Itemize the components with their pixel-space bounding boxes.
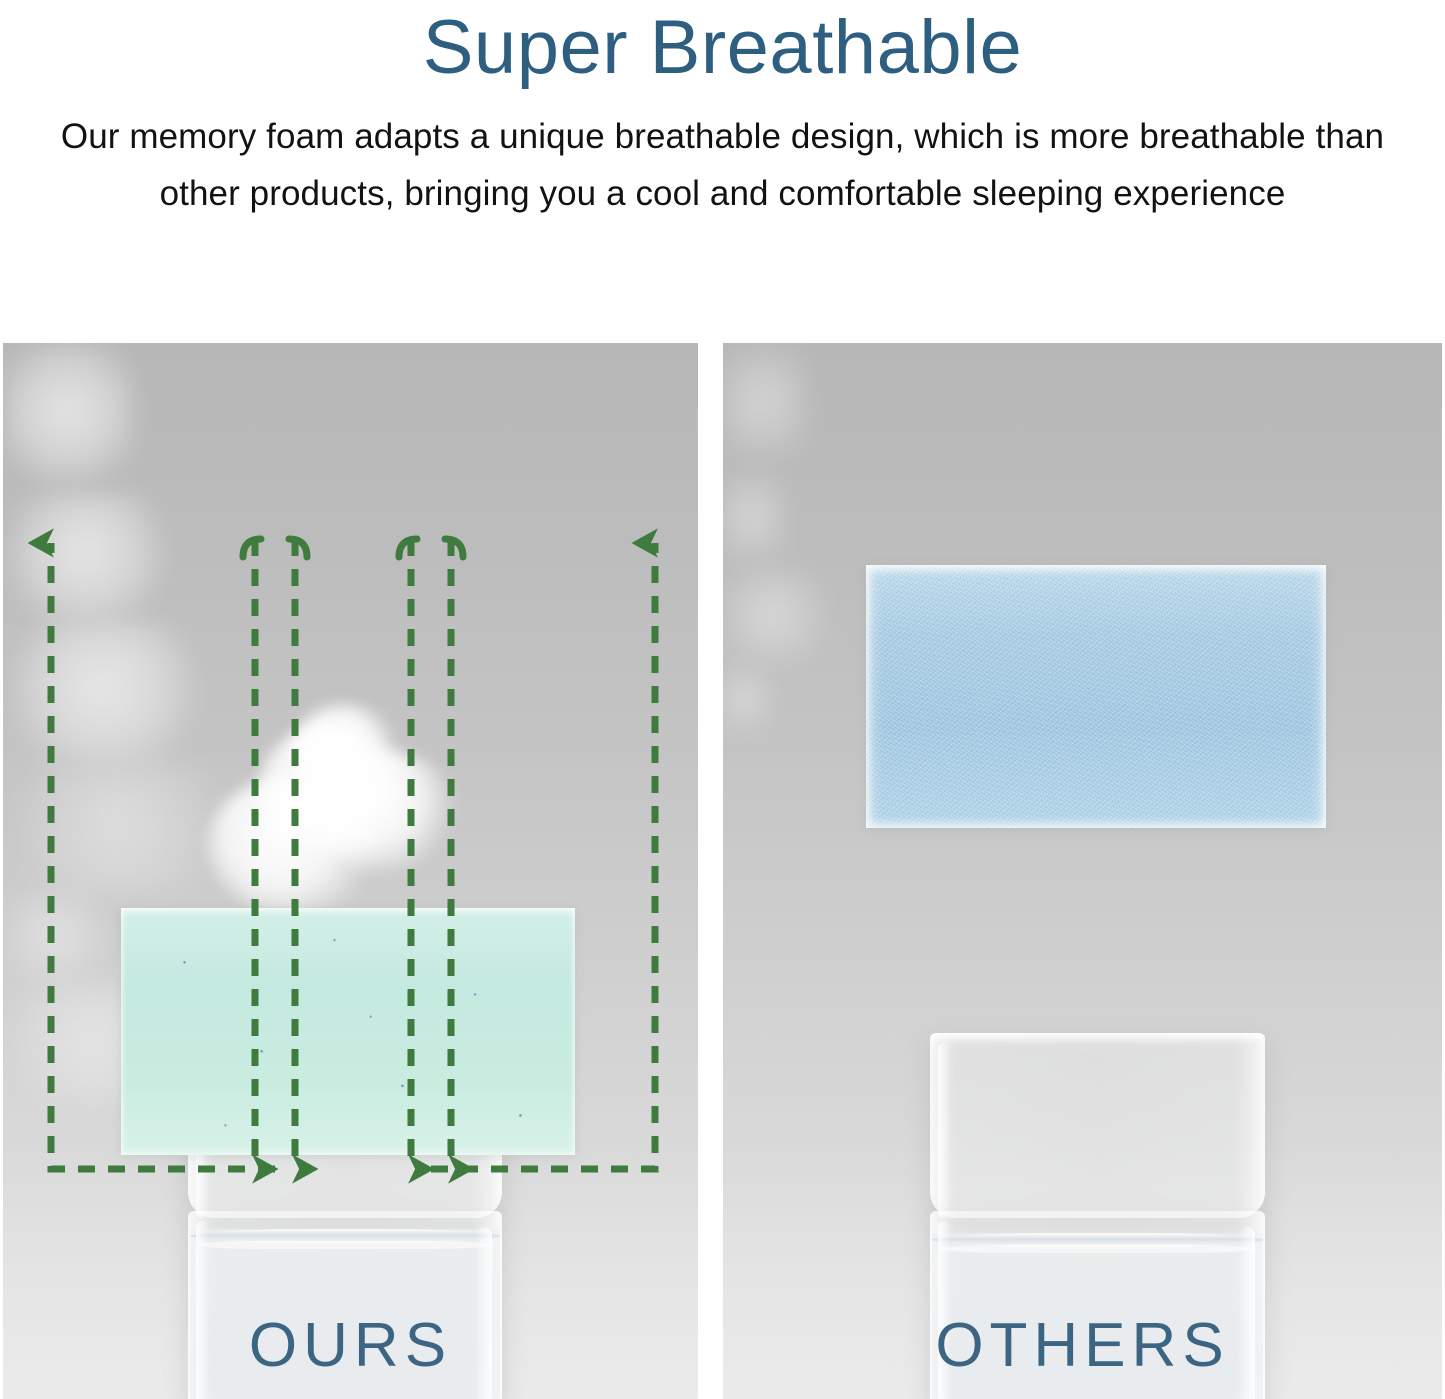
vapor-puff <box>3 493 168 623</box>
airflow-inlet-1 <box>243 539 261 557</box>
vapor-puff <box>3 763 233 893</box>
page-subtitle: Our memory foam adapts a unique breathab… <box>0 94 1445 222</box>
vapor-puff <box>3 893 108 983</box>
vapor-puff <box>723 343 803 471</box>
breathable-mint-memory-foam <box>121 908 575 1155</box>
vapor-puff <box>3 623 203 763</box>
panel-caption-ours: OURS <box>3 1310 698 1381</box>
airflow-inlet-2 <box>289 539 307 557</box>
small-vapor-wisp-group <box>723 343 823 737</box>
glass-highlight-left <box>938 1043 950 1218</box>
water-glass-others-body <box>930 1033 1265 1218</box>
vapor-puff <box>723 471 781 571</box>
vapor-puff <box>723 667 767 737</box>
header-block: Super Breathable Our memory foam adapts … <box>0 0 1445 222</box>
standard-blue-foam <box>866 565 1326 828</box>
comparison-panel-ours: OURS <box>3 343 698 1399</box>
page-title: Super Breathable <box>0 2 1445 94</box>
water-surface-highlight <box>196 1241 494 1249</box>
vapor-puff <box>258 725 408 853</box>
vapor-puff <box>315 751 455 871</box>
glass-rim <box>930 1033 1265 1043</box>
airflow-inlet-4 <box>445 539 463 557</box>
airflow-outer-left-cap <box>51 539 67 557</box>
water-surface-highlight <box>938 1245 1257 1253</box>
vapor-puff <box>291 705 397 801</box>
airflow-inlet-3 <box>399 539 417 557</box>
vapor-puff <box>723 571 823 667</box>
comparison-panel-others: OTHERS <box>723 343 1442 1399</box>
comparison-section: OURS OTHERS <box>0 343 1445 1399</box>
vapor-puff <box>208 775 383 915</box>
vapor-puff <box>3 343 133 493</box>
panel-caption-others: OTHERS <box>723 1310 1442 1381</box>
